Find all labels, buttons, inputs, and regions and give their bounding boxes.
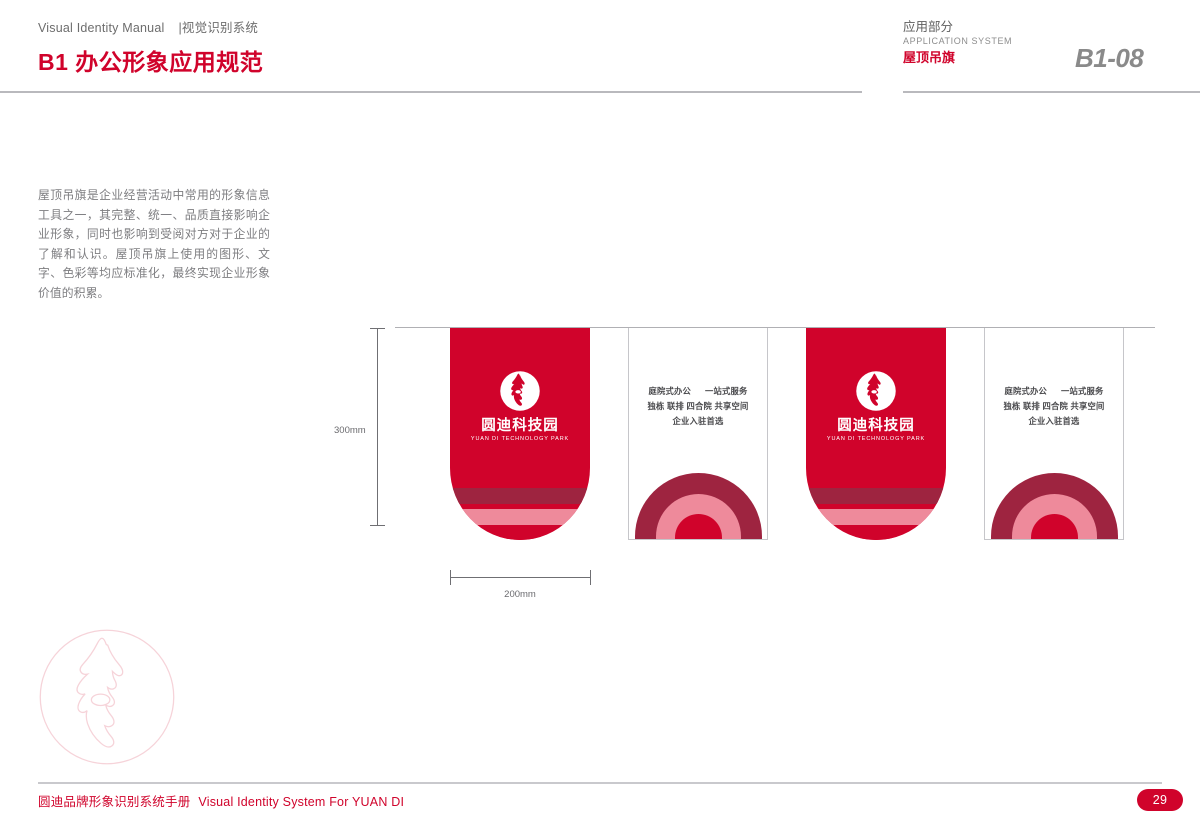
dimension-width-label: 200mm: [450, 589, 590, 600]
description-paragraph: 屋顶吊旗是企业经营活动中常用的形象信息工具之一，其完整、统一、品质直接影响企业形…: [38, 186, 270, 303]
slogan-block: 庭院式办公 一站式服务 独栋 联排 四合院 共享空间 企业入驻首选: [629, 384, 767, 429]
slogan-line1-b: 一站式服务: [705, 384, 748, 399]
banner-stripe-dark: [450, 488, 590, 504]
brand-mark-watermark-icon: [36, 626, 178, 768]
arc-inner-red: [1031, 514, 1078, 539]
page-code: B1-08: [1075, 43, 1143, 74]
slogan-line3: 企业入驻首选: [629, 414, 767, 429]
dimension-height-line: [377, 328, 378, 525]
dimension-height-label: 300mm: [334, 425, 366, 436]
banner-stripe-dark: [806, 488, 946, 504]
logo-name-en: YUAN DI TECHNOLOGY PARK: [450, 435, 590, 444]
header-section-block: 应用部分 APPLICATION SYSTEM 屋顶吊旗: [903, 20, 1103, 67]
slogan-block: 庭院式办公 一站式服务 独栋 联排 四合院 共享空间 企业入驻首选: [985, 384, 1123, 429]
banner-stripe-red: [450, 525, 590, 540]
logo-name-cn: 圆迪科技园: [806, 418, 946, 435]
banner-stripe-red: [806, 525, 946, 540]
footer-divider: [38, 782, 1162, 784]
header-divider-left: [0, 91, 862, 93]
slogan-gap: [691, 384, 705, 399]
banner-stripe-pink: [806, 509, 946, 525]
slogan-line3: 企业入驻首选: [985, 414, 1123, 429]
banner-white-slogan-1: 庭院式办公 一站式服务 独栋 联排 四合院 共享空间 企业入驻首选: [628, 328, 768, 540]
section-item-label: 屋顶吊旗: [903, 49, 1103, 67]
header-eyebrow-cn: |视觉识别系统: [178, 17, 258, 36]
arc-middle-pink: [656, 494, 741, 539]
slogan-gap: [1047, 384, 1061, 399]
banner-stripe-pink: [450, 509, 590, 525]
arc-outer-dark: [991, 473, 1118, 539]
header-eyebrow: Visual Identity Manual|视觉识别系统: [38, 17, 258, 36]
dimension-width-cap-right: [590, 570, 591, 585]
banner-red-logo-2: 圆迪科技园 YUAN DI TECHNOLOGY PARK: [806, 328, 946, 540]
logo-name-en: YUAN DI TECHNOLOGY PARK: [806, 435, 946, 444]
page-title: B1 办公形象应用规范: [38, 43, 263, 77]
dimension-height-cap-bottom: [370, 525, 385, 526]
section-label-cn: 应用部分: [903, 20, 1103, 35]
logo-lockup: 圆迪科技园 YUAN DI TECHNOLOGY PARK: [806, 370, 946, 444]
slogan-line2: 独栋 联排 四合院 共享空间: [985, 399, 1123, 414]
slogan-line1-a: 庭院式办公: [649, 384, 692, 399]
slogan-line1-b: 一站式服务: [1061, 384, 1104, 399]
header-divider-right: [903, 91, 1200, 93]
slogan-line2: 独栋 联排 四合院 共享空间: [629, 399, 767, 414]
arc-outer-dark: [635, 473, 762, 539]
dimension-width-cap-left: [450, 570, 451, 585]
brand-mark-icon: [499, 370, 541, 412]
artwork-stage: 300mm 200mm 圆迪科技园 YUAN DI TECHNOLOGY PAR…: [0, 0, 1200, 825]
page-number-badge: 29: [1137, 789, 1183, 811]
dimension-width-line: [450, 577, 590, 578]
logo-lockup: 圆迪科技园 YUAN DI TECHNOLOGY PARK: [450, 370, 590, 444]
arc-middle-pink: [1012, 494, 1097, 539]
brand-mark-icon: [855, 370, 897, 412]
footer-text: 圆迪品牌形象识别系统手册Visual Identity System For Y…: [38, 791, 404, 810]
slogan-line1-a: 庭院式办公: [1005, 384, 1048, 399]
ceiling-line: [395, 327, 1155, 328]
logo-name-cn: 圆迪科技园: [450, 418, 590, 435]
banner-white-slogan-2: 庭院式办公 一站式服务 独栋 联排 四合院 共享空间 企业入驻首选: [984, 328, 1124, 540]
banner-red-logo-1: 圆迪科技园 YUAN DI TECHNOLOGY PARK: [450, 328, 590, 540]
header-eyebrow-en: Visual Identity Manual: [38, 21, 164, 35]
arc-inner-red: [675, 514, 722, 539]
footer-text-en: Visual Identity System For YUAN DI: [198, 795, 404, 809]
dimension-height-cap-top: [370, 328, 385, 329]
footer-text-cn: 圆迪品牌形象识别系统手册: [38, 795, 190, 809]
section-label-en: APPLICATION SYSTEM: [903, 35, 1103, 48]
